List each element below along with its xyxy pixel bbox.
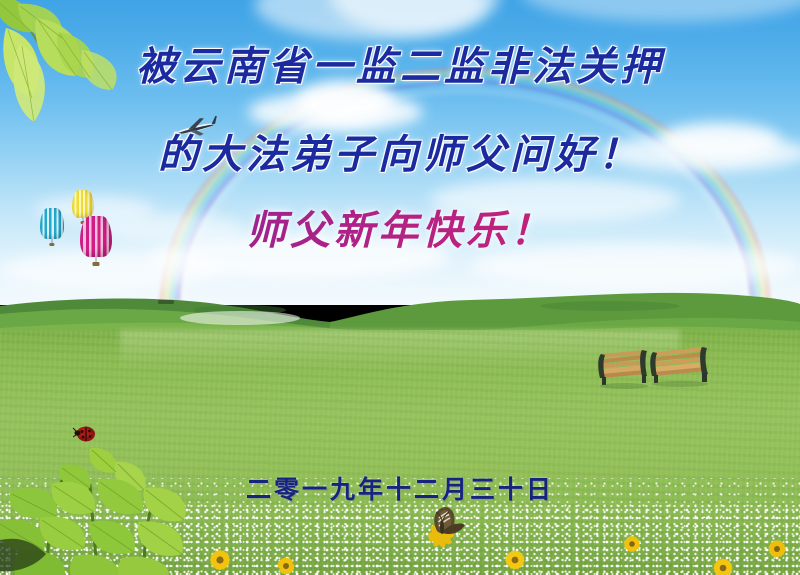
yellow-flower (266, 548, 306, 575)
yellow-flower (492, 540, 538, 575)
date-text: 二零一九年十二月三十日 (0, 470, 800, 506)
ladybug-icon (73, 427, 95, 442)
butterfly (415, 505, 477, 553)
greeting-line-2: 的大法弟子向师父问好！ (0, 122, 800, 180)
yellow-flower (756, 530, 798, 566)
yellow-flower (700, 548, 746, 575)
yellow-flower (612, 526, 652, 560)
two-park-benches (596, 344, 726, 394)
butterfly-wings (434, 507, 465, 534)
greeting-line-1: 被云南省一监二监非法关押 (0, 34, 800, 92)
greeting-line-3: 师父新年快乐！ (0, 198, 800, 256)
greeting-card: 被云南省一监二监非法关押 的大法弟子向师父问好！ 师父新年快乐！ 二零一九年十二… (0, 0, 800, 575)
